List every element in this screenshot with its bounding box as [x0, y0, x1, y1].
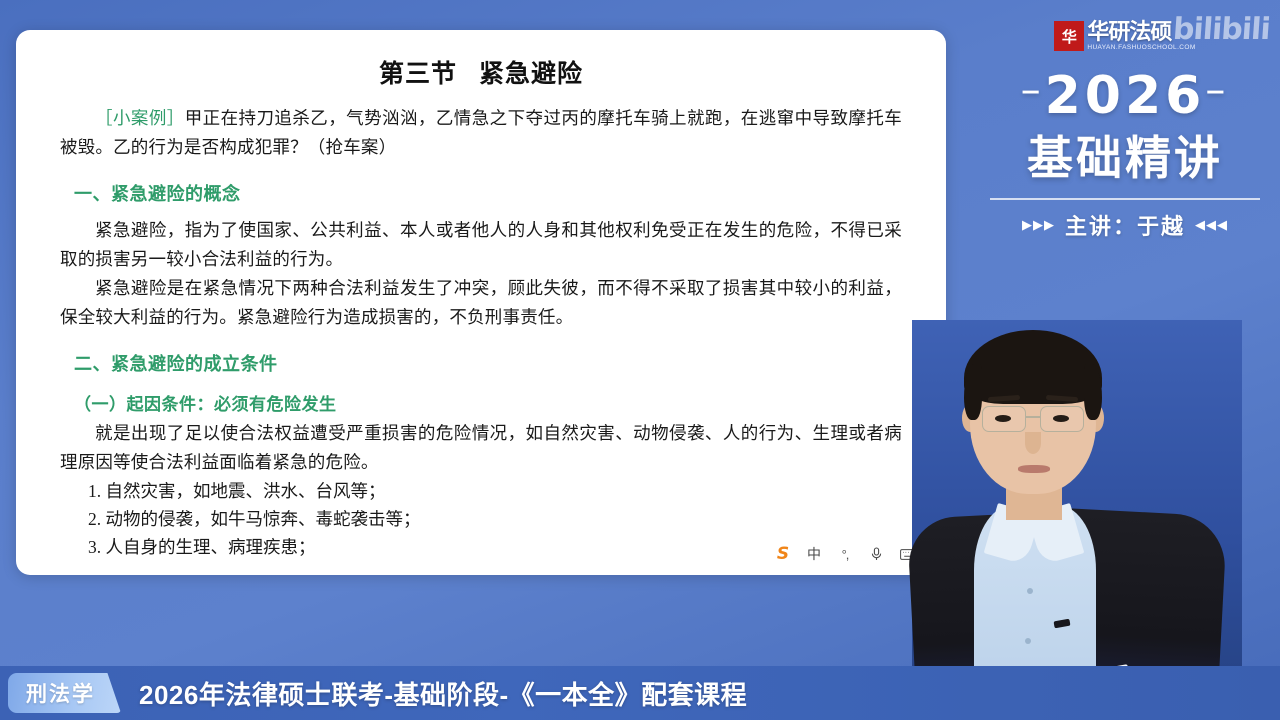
arrow-right-triple-icon: ▶▶▶ [1022, 217, 1055, 233]
presenter-eyebrow-right [1046, 395, 1078, 402]
list-item: 1. 自然灾害，如地震、洪水、台风等； [88, 477, 902, 505]
presenter-eye-right [1053, 415, 1069, 422]
presenter-lapel-mic [1054, 619, 1071, 629]
microphone-icon[interactable] [867, 545, 885, 563]
subject-tag: 刑法学 [8, 673, 121, 713]
document-panel: 第三节紧急避险 ［小案例］甲正在持刀追杀乙，气势汹汹，乙情急之下夺过丙的摩托车骑… [16, 30, 946, 575]
branding-panel: 华 华研法硕 HUAYAN.FASHUOSCHOOL.COM bilibili … [970, 0, 1280, 290]
presenter-shirt-button [1025, 638, 1031, 644]
presenter-mouth [1018, 465, 1050, 473]
brand-course-name: 基础精讲 [984, 122, 1266, 188]
ime-language-mode[interactable]: 中 [805, 545, 823, 563]
page-title-section: 第三节 [379, 61, 457, 88]
paragraph-concept-1: 紧急避险，指为了使国家、公共利益、本人或者他人的人身和其他权利免受正在发生的危险… [60, 216, 902, 274]
brand-lecturer-name: 主讲：于越 [1065, 209, 1185, 241]
presenter-backdrop [912, 320, 1242, 720]
case-body-text: 甲正在持刀追杀乙，气势汹汹，乙情急之下夺过丙的摩托车骑上就跑，在逃窜中导致摩托车… [60, 108, 902, 157]
ime-punctuation-icon[interactable]: °, [836, 545, 854, 563]
brand-year-value: 2026 [1045, 66, 1206, 126]
presenter-eye-left [995, 415, 1011, 422]
slide-stage: 第三节紧急避险 ［小案例］甲正在持刀追杀乙，气势汹汹，乙情急之下夺过丙的摩托车骑… [0, 0, 1280, 720]
presenter-collar-left [984, 503, 1041, 565]
presenter-eyebrow-left [988, 395, 1020, 402]
presenter-hair-side-right [1084, 364, 1102, 420]
brand-logo-row: 华 华研法硕 HUAYAN.FASHUOSCHOOL.COM bilibili [984, 10, 1266, 62]
page-title-topic: 紧急避险 [479, 61, 583, 88]
paragraph-concept-2: 紧急避险是在紧急情况下两种合法利益发生了冲突，顾此失彼，而不得不采取了损害其中较… [60, 274, 902, 332]
brand-lecturer-row: ▶▶▶ 主讲：于越 ◀◀◀ [984, 209, 1266, 241]
ime-toolbar[interactable]: S 中 °, [770, 543, 920, 565]
brand-year: –2026– [984, 66, 1266, 126]
presenter-hair [964, 330, 1102, 404]
presenter-neck [1006, 478, 1062, 520]
sogou-logo-icon[interactable]: S [774, 545, 792, 563]
course-title: 2026年法律硕士联考-基础阶段-《一本全》配套课程 [139, 675, 747, 712]
list-item: 2. 动物的侵袭，如牛马惊奔、毒蛇袭击等； [88, 505, 902, 533]
case-tag-label: ［小案例］ [95, 108, 185, 128]
keyboard-icon[interactable] [898, 545, 916, 563]
presenter-hair-side-left [964, 364, 982, 420]
case-paragraph: ［小案例］甲正在持刀追杀乙，气势汹汹，乙情急之下夺过丙的摩托车骑上就跑，在逃窜中… [60, 104, 902, 162]
heading-concept: 一、紧急避险的概念 [74, 180, 902, 206]
presenter-shirt-button [1027, 588, 1033, 594]
presenter-ear-right [1088, 404, 1104, 432]
bilibili-watermark: bilibili [1172, 12, 1271, 47]
page-title: 第三节紧急避险 [60, 54, 902, 90]
heading-condition-cause: （一）起因条件：必须有危险发生 [74, 390, 902, 415]
brand-logo-badge-icon: 华 [1054, 21, 1084, 51]
presenter-video [912, 320, 1242, 720]
arrow-left-triple-icon: ◀◀◀ [1195, 217, 1228, 233]
presenter-glasses-right-lens [1040, 406, 1084, 432]
brand-divider [990, 198, 1260, 200]
presenter-ear-left [962, 404, 978, 432]
presenter-glasses-left-lens [982, 406, 1026, 432]
presenter-glasses-bridge [1026, 416, 1040, 418]
bottom-bar: 刑法学 2026年法律硕士联考-基础阶段-《一本全》配套课程 [0, 666, 1280, 720]
presenter-collar-right [1028, 503, 1085, 565]
paragraph-cause: 就是出现了足以使合法权益遭受严重损害的危险情况，如自然灾害、动物侵袭、人的行为、… [60, 419, 902, 477]
presenter-nose [1025, 432, 1041, 454]
heading-conditions: 二、紧急避险的成立条件 [74, 350, 902, 376]
presenter-face [970, 342, 1096, 494]
